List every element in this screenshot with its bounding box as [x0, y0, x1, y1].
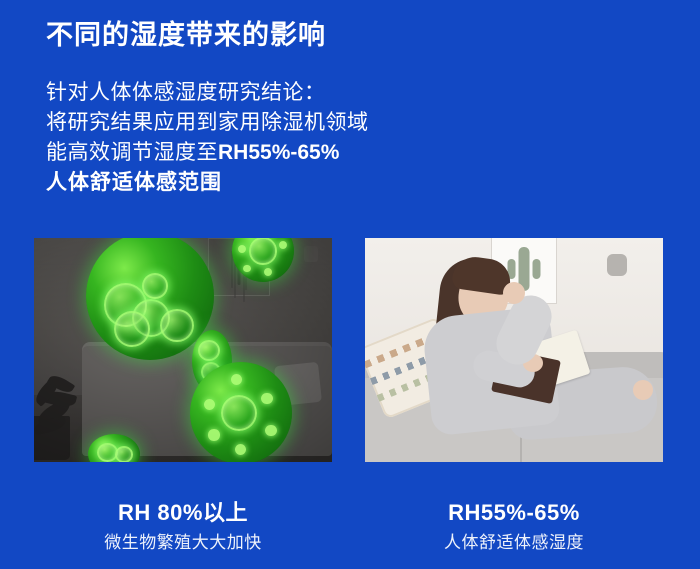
microbe-sphere-icon [190, 362, 292, 462]
microbe-cell [160, 309, 193, 342]
microbe-spike [261, 393, 272, 404]
page-title: 不同的湿度带来的影响 [46, 18, 326, 52]
caption-comfort-humidity: RH55%-65% 人体舒适体感湿度 [365, 500, 663, 555]
woman-reading-figure [411, 250, 641, 462]
body-line-3: 能高效调节湿度至RH55%-65% [46, 138, 369, 168]
microbe-cell [115, 446, 133, 462]
body-copy: 针对人体体感湿度研究结论： 将研究结果应用到家用除湿机领域 能高效调节湿度至RH… [46, 78, 369, 198]
body-line-2: 将研究结果应用到家用除湿机领域 [46, 108, 369, 138]
caption-main-text: RH55%-65% [365, 500, 663, 526]
microbe-spike [265, 425, 276, 436]
body-line-3-normal: 能高效调节湿度至 [46, 141, 218, 164]
microbe-spike [204, 399, 215, 410]
microbe-spike [279, 241, 287, 249]
microbe-spike [243, 265, 250, 272]
microbe-cell [249, 238, 276, 265]
caption-sub-text: 微生物繁殖大大加快 [34, 531, 332, 555]
microbe-cell [221, 395, 258, 432]
poster-root: 不同的湿度带来的影响 针对人体体感湿度研究结论： 将研究结果应用到家用除湿机领域… [0, 0, 700, 569]
foot [633, 380, 653, 400]
microbe-cell [114, 311, 150, 347]
bright-living-room-scene [365, 238, 663, 462]
microbe-spike [264, 268, 272, 276]
microbe-cell [142, 273, 168, 299]
microbe-spike [208, 429, 219, 440]
hand-at-forehead [503, 282, 525, 304]
photo-panel-high-humidity [34, 238, 332, 462]
body-line-1: 针对人体体感湿度研究结论： [46, 78, 369, 108]
caption-main-text: RH 80%以上 [34, 500, 332, 526]
microbe-spike [231, 374, 242, 385]
microbe-spike [235, 444, 246, 455]
photo-panel-comfort-humidity [365, 238, 663, 462]
microbe-spike [238, 245, 246, 253]
caption-sub-text: 人体舒适体感湿度 [365, 531, 663, 555]
microbe-cell [198, 340, 220, 361]
body-line-3-bold: RH55%-65% [218, 141, 339, 164]
dark-living-room-scene [34, 238, 332, 462]
body-line-4: 人体舒适体感范围 [46, 168, 369, 198]
microbe-sphere-icon [86, 238, 214, 360]
caption-high-humidity: RH 80%以上 微生物繁殖大大加快 [34, 500, 332, 555]
